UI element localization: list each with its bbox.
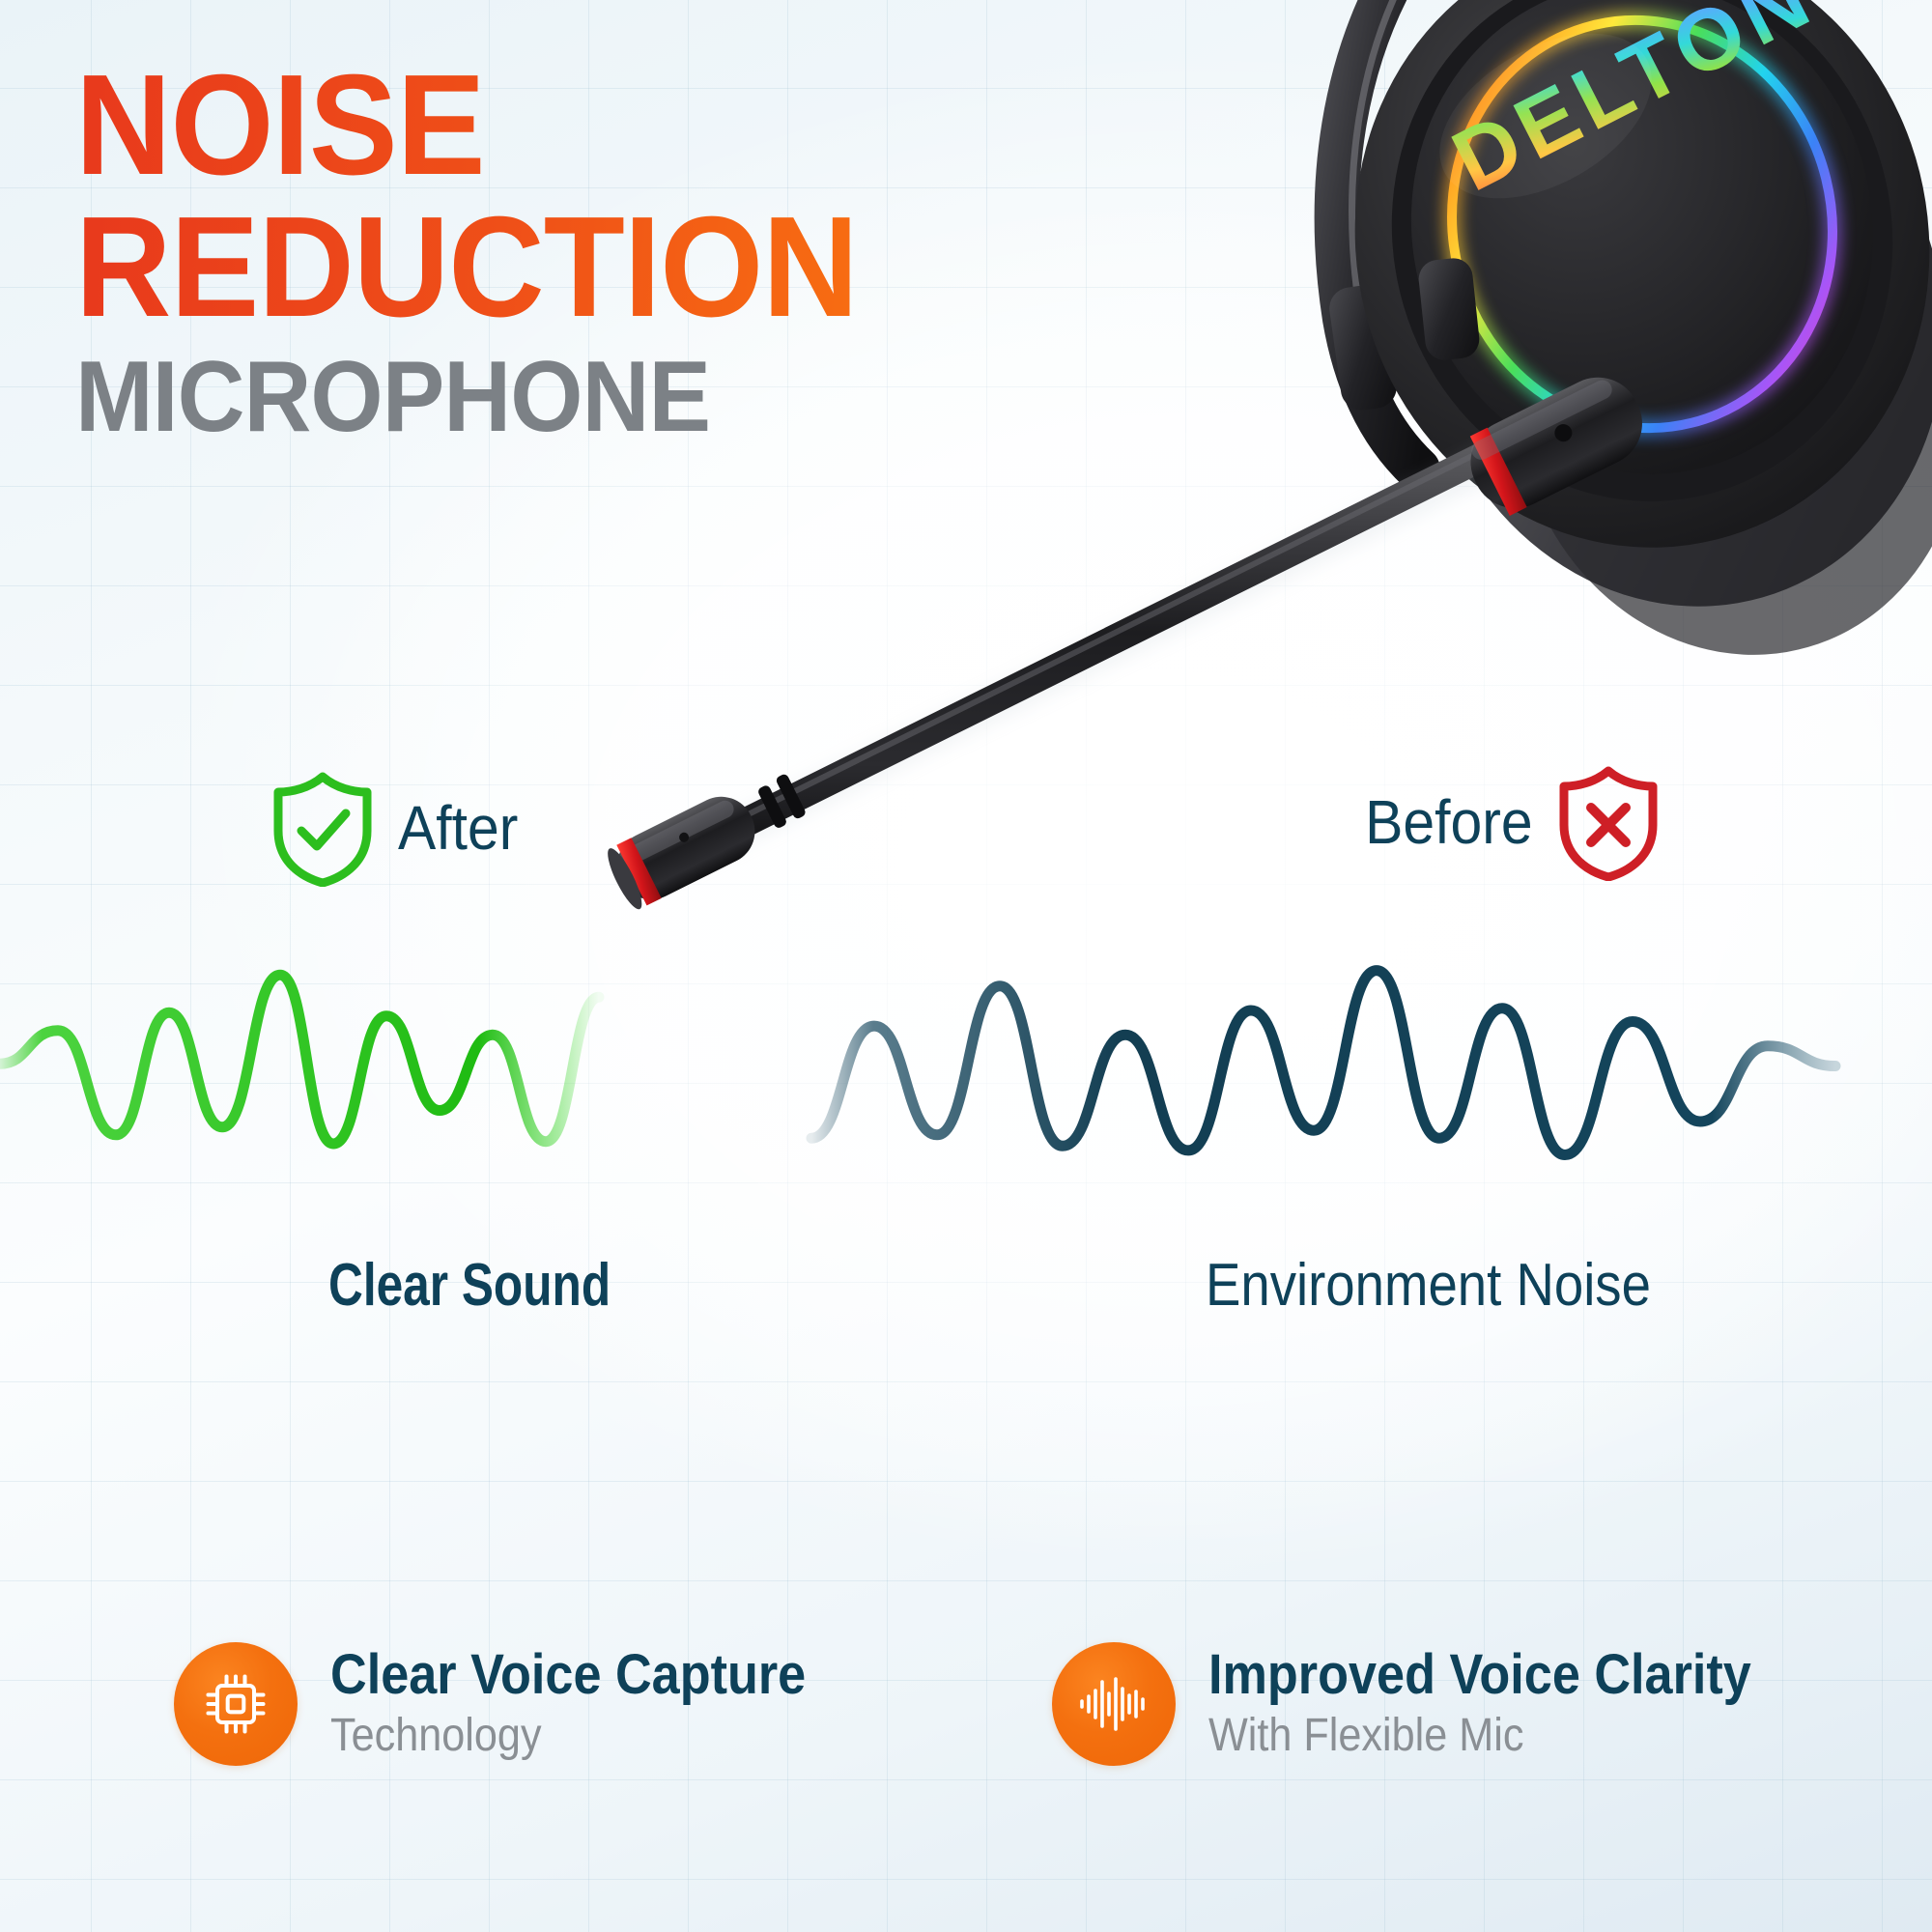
mic-led-dot: [1551, 421, 1575, 444]
feature-subtitle: Technology: [330, 1711, 806, 1762]
feature-list: Clear Voice Capture Technology Improved …: [174, 1642, 1816, 1766]
shield-x-icon: [1554, 763, 1662, 881]
before-badge: Before: [1350, 763, 1662, 881]
audio-waveform-icon: [1052, 1642, 1176, 1766]
before-waveform: [811, 971, 1835, 1155]
mic-tip-red-ring: [616, 838, 661, 905]
feature-item-clear-voice-capture: Clear Voice Capture Technology: [174, 1642, 859, 1766]
ear-cup: DELTON: [1291, 0, 1932, 609]
feature-text: Clear Voice Capture Technology: [330, 1646, 859, 1761]
feature-title: Clear Voice Capture: [330, 1646, 806, 1704]
before-badge-label: Before: [1365, 786, 1532, 858]
ear-cushion: [1354, 0, 1932, 708]
headline-line-1: NOISE: [75, 58, 1135, 194]
after-badge-label: After: [398, 792, 518, 864]
feature-text: Improved Voice Clarity With Flexible Mic: [1208, 1646, 1811, 1761]
headband: [1326, 0, 1418, 469]
before-caption: Environment Noise: [1206, 1251, 1651, 1320]
cup-hinge: [1417, 256, 1482, 361]
noise-spikes: [751, 840, 1752, 1295]
after-badge: After: [269, 769, 528, 887]
chip-icon: [174, 1642, 298, 1766]
headline-block: NOISE REDUCTION MICROPHONE: [75, 58, 1215, 447]
feature-item-improved-voice-clarity: Improved Voice Clarity With Flexible Mic: [1052, 1642, 1811, 1766]
headline-line-2: REDUCTION: [75, 200, 1135, 336]
shield-check-icon: [269, 769, 377, 887]
after-waveform: [0, 975, 599, 1144]
promo-graphic: DELTON: [0, 0, 1932, 1932]
headline-subtitle: MICROPHONE: [75, 347, 1135, 447]
brand-logo: DELTON: [1438, 0, 1830, 210]
feature-subtitle: With Flexible Mic: [1208, 1711, 1751, 1762]
after-caption: Clear Sound: [328, 1251, 611, 1320]
boom-mount-red-ring: [1470, 428, 1527, 516]
feature-title: Improved Voice Clarity: [1208, 1646, 1751, 1704]
